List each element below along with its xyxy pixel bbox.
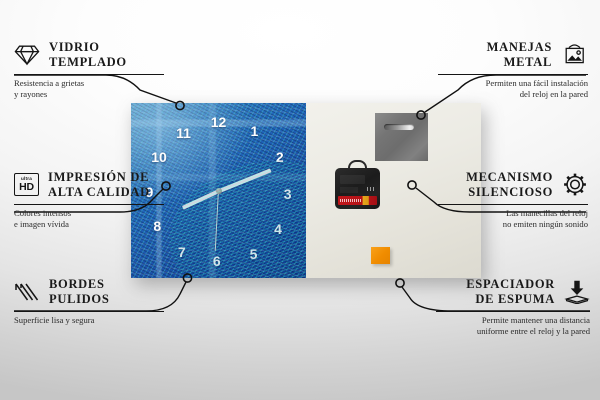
clock-mechanism — [335, 165, 380, 209]
clock-numeral: 12 — [211, 115, 227, 129]
callout-divider — [438, 74, 588, 75]
mechanism-body — [335, 168, 380, 209]
callout-subtitle: Resistencia a grietas y rayones — [14, 78, 164, 101]
hanger-slot — [384, 124, 414, 130]
callout-divider — [14, 311, 164, 312]
ultra-hd-badge-main-text: HD — [19, 182, 34, 193]
clock-numeral: 5 — [250, 247, 258, 261]
callout-subtitle: Permite mantener una distancia uniforme … — [436, 315, 590, 338]
clock-numeral: 11 — [176, 126, 191, 140]
callout-title: BORDES PULIDOS — [49, 277, 109, 307]
clock-center-cap — [216, 188, 222, 194]
callout-title: MANEJAS METAL — [487, 40, 552, 70]
clock-minute-hand — [218, 168, 271, 192]
gear-icon — [562, 172, 588, 197]
down-arrow-onto-block-icon — [564, 279, 590, 304]
callout-divider — [14, 74, 164, 75]
clock-numeral: 10 — [151, 150, 167, 164]
product-photo-group: 12 1 2 3 4 5 6 7 8 9 10 11 — [131, 103, 481, 278]
connector-dot-foam-spacer — [396, 279, 404, 287]
mechanism-contacts — [367, 187, 376, 191]
callout-subtitle: Las manecillas del reloj no emiten ningú… — [438, 208, 588, 231]
clock-numeral: 1 — [250, 124, 258, 138]
callout-polished-edges: BORDES PULIDOS Superficie lisa y segura — [14, 277, 164, 326]
callout-head: ESPACIADOR DE ESPUMA — [436, 277, 590, 307]
clock-numeral: 3 — [284, 187, 292, 201]
clock-numeral: 6 — [213, 254, 221, 268]
callout-title: VIDRIO TEMPLADO — [49, 40, 127, 70]
callout-title: MECANISMO SILENCIOSO — [466, 170, 553, 200]
clock-numeral: 7 — [178, 245, 186, 259]
mechanism-panel-small — [340, 187, 358, 193]
callout-head: MANEJAS METAL — [438, 40, 588, 70]
mechanism-panel — [340, 175, 365, 184]
callout-foam-spacer: ESPACIADOR DE ESPUMA Permite mantener un… — [436, 277, 590, 338]
callout-tempered-glass: VIDRIO TEMPLADO Resistencia a grietas y … — [14, 40, 164, 101]
callout-subtitle: Permiten una fácil instalación del reloj… — [438, 78, 588, 101]
callout-subtitle: Superficie lisa y segura — [14, 315, 164, 327]
clock-numeral: 2 — [276, 150, 284, 164]
infographic-canvas: 12 1 2 3 4 5 6 7 8 9 10 11 — [0, 0, 600, 400]
foam-spacer — [371, 247, 390, 264]
diagonal-lines-icon — [14, 281, 40, 303]
clock-numeral: 4 — [274, 222, 282, 236]
picture-frame-hanger-icon — [561, 43, 588, 66]
metal-hanger-plate — [375, 113, 428, 161]
callout-divider — [438, 204, 588, 205]
callout-silent-mechanism: MECANISMO SILENCIOSO Las manecillas del … — [438, 170, 588, 231]
callout-head: BORDES PULIDOS — [14, 277, 164, 307]
diamond-icon — [14, 44, 40, 66]
callout-divider — [14, 204, 164, 205]
mechanism-label — [338, 196, 377, 205]
callout-head: ultra HD IMPRESIÓN DE ALTA CALIDAD — [14, 170, 164, 200]
ultra-hd-badge-icon: ultra HD — [14, 173, 39, 196]
callout-metal-handles: MANEJAS METAL Permiten una fácil instala… — [438, 40, 588, 101]
callout-title: ESPACIADOR DE ESPUMA — [466, 277, 555, 307]
clock-second-hand — [215, 188, 220, 250]
callout-hd-print: ultra HD IMPRESIÓN DE ALTA CALIDAD Color… — [14, 170, 164, 231]
callout-head: MECANISMO SILENCIOSO — [438, 170, 588, 200]
callout-divider — [436, 311, 590, 312]
callout-title: IMPRESIÓN DE ALTA CALIDAD — [48, 170, 150, 200]
callout-subtitle: Colores intensos e imagen vívida — [14, 208, 164, 231]
callout-head: VIDRIO TEMPLADO — [14, 40, 164, 70]
